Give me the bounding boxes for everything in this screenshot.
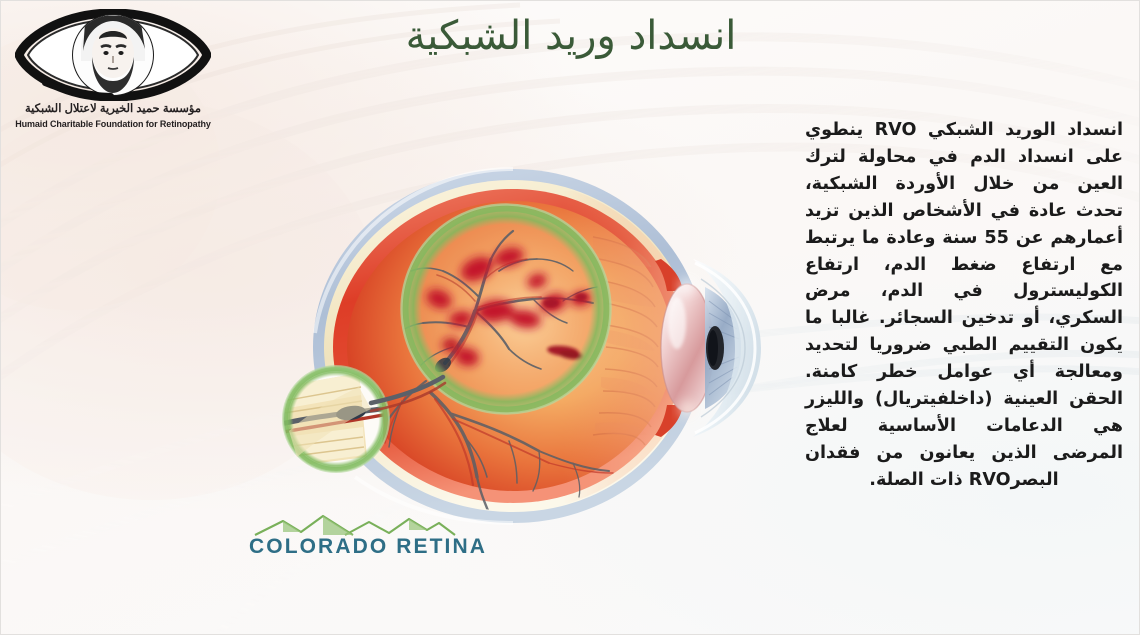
presentation-slide: مؤسسة حميد الخيرية لاعتلال الشبكية Humai… bbox=[0, 0, 1140, 635]
colorado-retina-wordmark: COLORADO RETINA bbox=[249, 535, 461, 559]
cross-section-eye-diagram bbox=[263, 151, 763, 541]
portrait-silhouette-icon bbox=[73, 15, 153, 95]
foundation-logo: مؤسسة حميد الخيرية لاعتلال الشبكية Humai… bbox=[15, 9, 211, 135]
eye-with-portrait-logo-icon bbox=[15, 9, 211, 101]
body-paragraph: انسداد الوريد الشبكي RVO ينطوي على انسدا… bbox=[805, 117, 1123, 494]
mountain-range-icon bbox=[249, 513, 461, 537]
page-title: انسداد وريد الشبكية bbox=[301, 13, 841, 59]
foundation-logo-arabic-name: مؤسسة حميد الخيرية لاعتلال الشبكية bbox=[15, 101, 211, 115]
anterior-segment bbox=[655, 259, 761, 437]
foundation-logo-english-name: Humaid Charitable Foundation for Retinop… bbox=[15, 119, 211, 129]
colorado-retina-logo: COLORADO RETINA bbox=[249, 513, 461, 563]
